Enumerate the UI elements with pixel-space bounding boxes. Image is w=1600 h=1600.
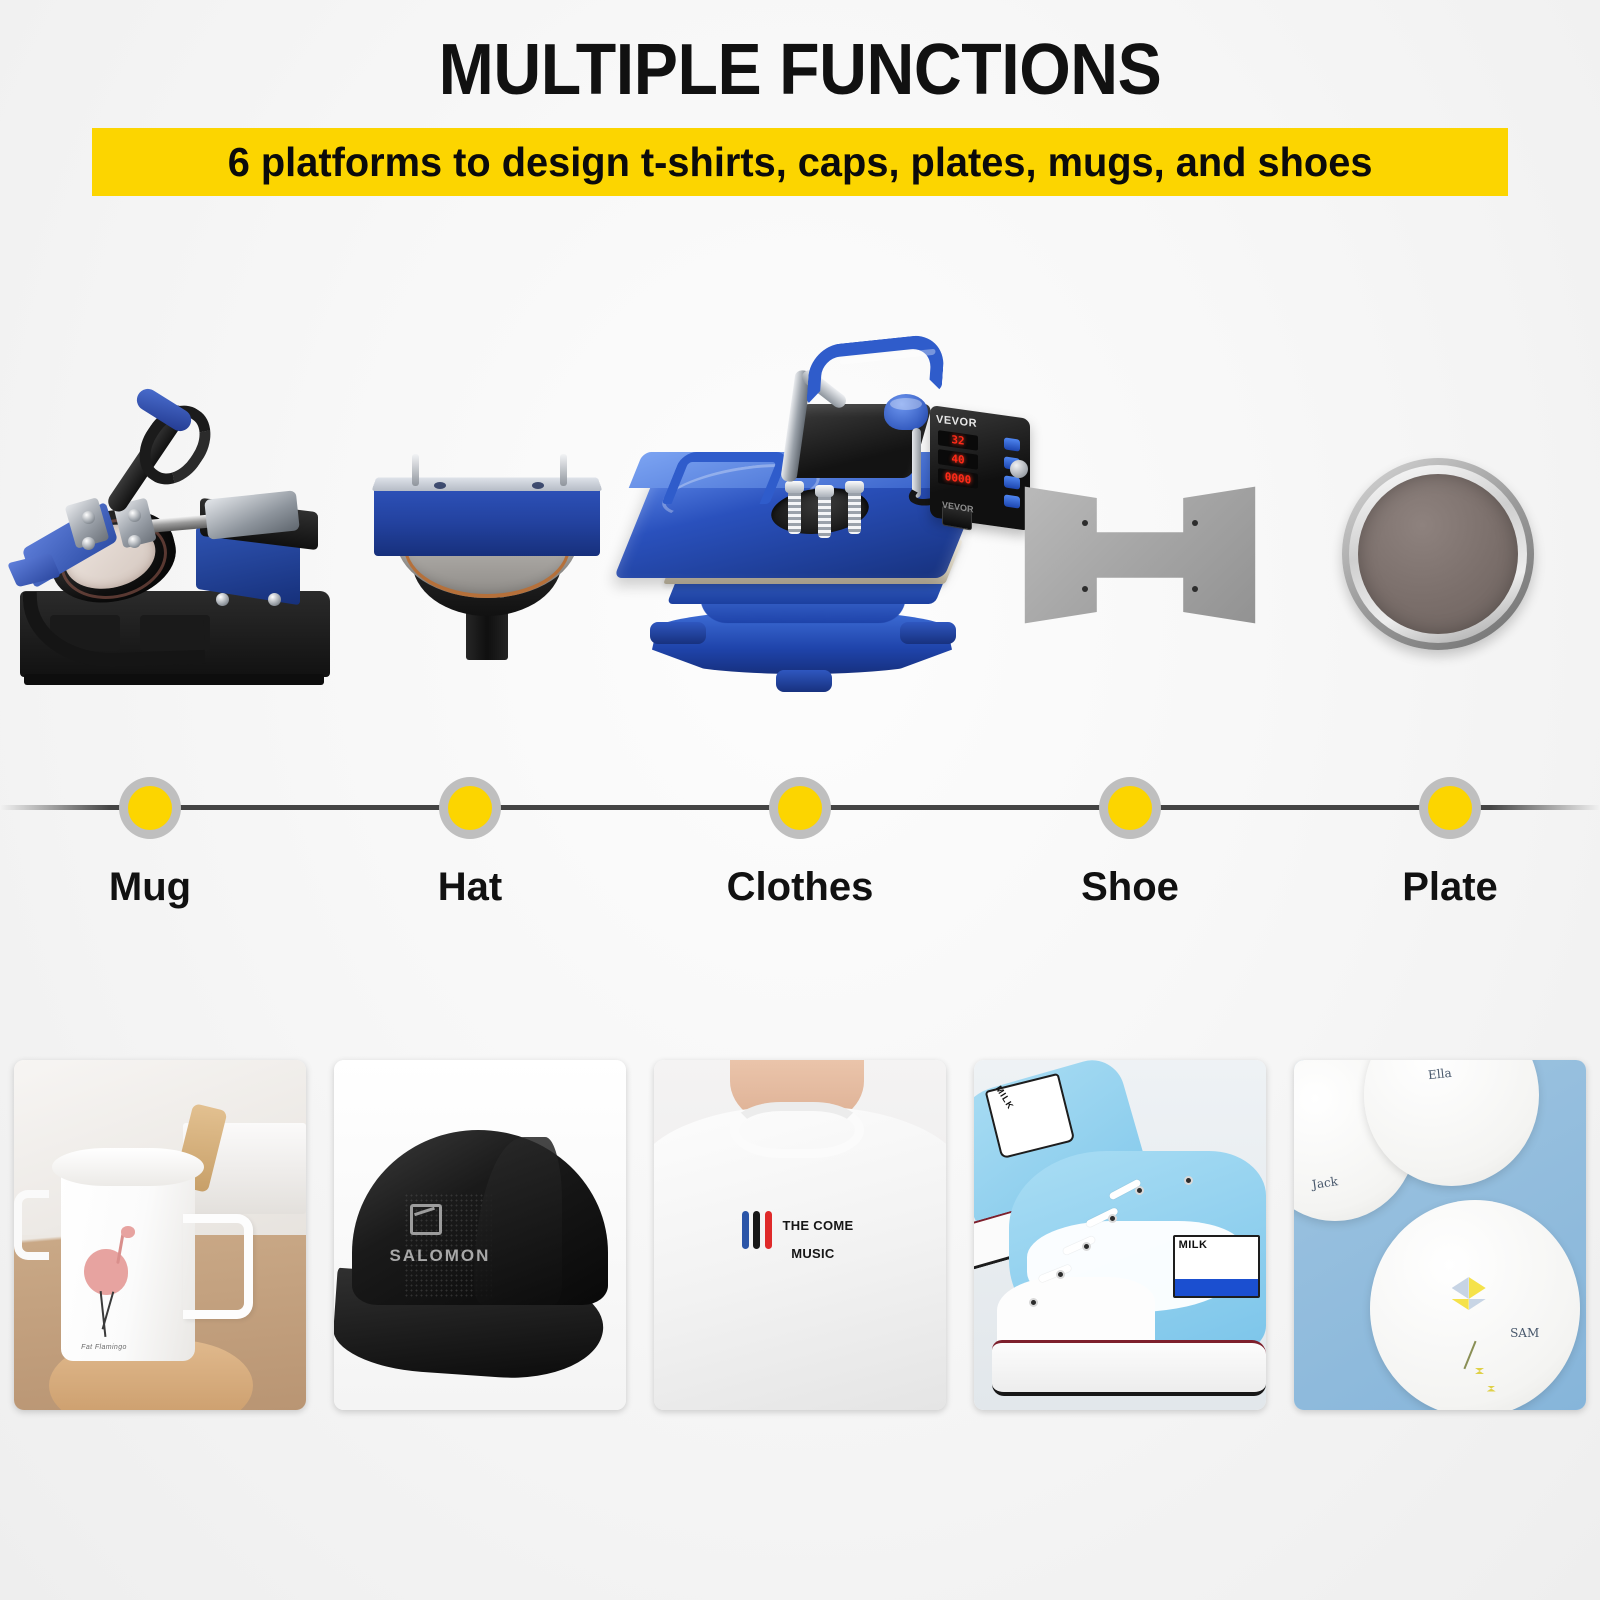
timeline-label-clothes: Clothes	[670, 865, 930, 910]
hat-press-attachment	[368, 450, 606, 660]
temperature-display: 32	[938, 430, 978, 451]
milk-carton-label: MILK	[1179, 1239, 1208, 1251]
platen-hole-icon	[1082, 520, 1088, 526]
photo-shirt-image: THE COME MUSIC	[654, 1060, 946, 1410]
plate-press-surface	[1358, 474, 1518, 634]
timeline-node-clothes[interactable]	[769, 777, 831, 839]
spring-icon	[848, 490, 861, 534]
photo-cap[interactable]: SALOMON	[334, 1060, 626, 1410]
press-main-handle[interactable]	[808, 340, 944, 402]
timeline-label-hat: Hat	[340, 865, 600, 910]
time-display: 40	[938, 449, 978, 470]
mug-handle	[183, 1214, 253, 1319]
platen-hole-icon	[1192, 586, 1198, 592]
photo-plate[interactable]: Jack Ella SAM	[1294, 1060, 1586, 1410]
plate-press-attachment	[1342, 458, 1534, 650]
mug-press-attachment	[10, 385, 340, 685]
lace-eyelet-icon	[1056, 1270, 1065, 1279]
plate-name-jack: Jack	[1311, 1174, 1339, 1191]
main-heat-press: VEVOR 32 40 0000 VEVOR	[612, 340, 1012, 730]
hat-press-blue-block	[374, 482, 600, 556]
plate-name-ella: Ella	[1428, 1066, 1453, 1082]
kite-drawing-icon	[1452, 1277, 1486, 1321]
front-sneaker-sole	[992, 1340, 1266, 1396]
timeline-node-dot	[1108, 786, 1152, 830]
panel-button-1[interactable]	[1004, 437, 1020, 451]
bolt-icon	[560, 454, 567, 486]
press-side-handle	[661, 452, 790, 504]
photo-shoe[interactable]: MILK MILK	[974, 1060, 1266, 1410]
photo-plate-image: Jack Ella SAM	[1294, 1060, 1586, 1410]
mug-press-blue-tip	[7, 553, 61, 588]
mount-hole-icon	[532, 482, 544, 489]
timeline-node-dot	[128, 786, 172, 830]
timeline-label-mug: Mug	[20, 865, 280, 910]
logo-bar-red	[765, 1211, 772, 1249]
press-foot	[900, 622, 956, 644]
logo-bar-blue	[742, 1211, 749, 1249]
mug-press-foot	[24, 674, 324, 685]
hat-press-top-plate	[372, 477, 603, 491]
spring-cap-icon	[815, 485, 834, 497]
timeline-node-dot	[778, 786, 822, 830]
lace-eyelet-icon	[1082, 1242, 1091, 1251]
photo-shirt[interactable]: THE COME MUSIC	[654, 1060, 946, 1410]
mug-body	[61, 1158, 195, 1361]
timeline-node-shoe[interactable]	[1099, 777, 1161, 839]
platen-hole-icon	[1082, 586, 1088, 592]
photo-mug[interactable]: Fat Flamingo	[14, 1060, 306, 1410]
screw-icon	[268, 593, 281, 606]
shoe-platen-attachment	[1020, 460, 1260, 650]
press-foot	[776, 670, 832, 692]
milk-jar-label: MILK	[993, 1084, 1015, 1111]
screw-icon	[82, 537, 95, 550]
subtitle-text: 6 platforms to design t-shirts, caps, pl…	[228, 139, 1373, 186]
platen-hole-icon	[1192, 520, 1198, 526]
screw-icon	[128, 509, 141, 522]
spring-icon	[788, 490, 801, 534]
kite-quadrant	[1452, 1299, 1469, 1321]
mount-hole-icon	[434, 482, 446, 489]
timeline-node-dot	[1428, 786, 1472, 830]
spring-cap-icon	[845, 481, 864, 493]
screw-icon	[216, 593, 229, 606]
panel-button-4[interactable]	[1004, 494, 1020, 508]
screw-icon	[128, 535, 141, 548]
lace-eyelet-icon	[1184, 1176, 1193, 1185]
mug-lid	[52, 1148, 204, 1187]
timeline-node-mug[interactable]	[119, 777, 181, 839]
header: MULTIPLE FUNCTIONS 6 platforms to design…	[0, 0, 1600, 196]
subtitle-banner: 6 platforms to design t-shirts, caps, pl…	[92, 128, 1508, 196]
second-mug-handle	[14, 1190, 49, 1260]
shoe-platen-plate	[1020, 460, 1260, 650]
spring-icon	[818, 494, 831, 538]
timeline-node-hat[interactable]	[439, 777, 501, 839]
salomon-logo-icon	[410, 1204, 442, 1236]
product-row: VEVOR 32 40 0000 VEVOR	[0, 330, 1600, 750]
timeline-node-dot	[448, 786, 492, 830]
milk-carton-graphic: MILK	[1173, 1235, 1261, 1298]
logo-bar-black	[753, 1211, 760, 1249]
photo-card-row: Fat Flamingo SALOMON THE COME MUSIC	[0, 1060, 1600, 1410]
brand-label: VEVOR	[936, 414, 977, 430]
press-handle-loop	[806, 333, 945, 406]
mug-print-caption: Fat Flamingo	[81, 1344, 127, 1351]
timeline-label-plate: Plate	[1320, 865, 1580, 910]
timeline-label-shoe: Shoe	[1000, 865, 1260, 910]
page-title: MULTIPLE FUNCTIONS	[64, 34, 1536, 106]
shirt-collar	[730, 1102, 864, 1158]
photo-shoe-image: MILK MILK	[974, 1060, 1266, 1410]
plate-name-sam: SAM	[1510, 1326, 1539, 1340]
shirt-logo-line2: MUSIC	[791, 1246, 834, 1261]
lace-eyelet-icon	[1135, 1186, 1144, 1195]
kite-quadrant	[1469, 1299, 1486, 1321]
shirt-logo-line1: THE COME	[782, 1218, 853, 1233]
photo-cap-image: SALOMON	[334, 1060, 626, 1410]
kite-quadrant	[1469, 1277, 1486, 1299]
flamingo-icon	[84, 1249, 128, 1295]
spring-cap-icon	[785, 481, 804, 493]
photo-mug-image: Fat Flamingo	[14, 1060, 306, 1410]
timeline-node-plate[interactable]	[1419, 777, 1481, 839]
kite-quadrant	[1452, 1277, 1469, 1299]
secondary-display: 0000	[938, 468, 978, 489]
timeline: Mug Hat Clothes Shoe Plate	[0, 755, 1600, 955]
cap-logo-text: SALOMON	[389, 1246, 490, 1266]
screw-icon	[82, 511, 95, 524]
press-foot	[650, 622, 706, 644]
bolt-icon	[412, 454, 419, 486]
mug-press-handle	[138, 399, 248, 517]
